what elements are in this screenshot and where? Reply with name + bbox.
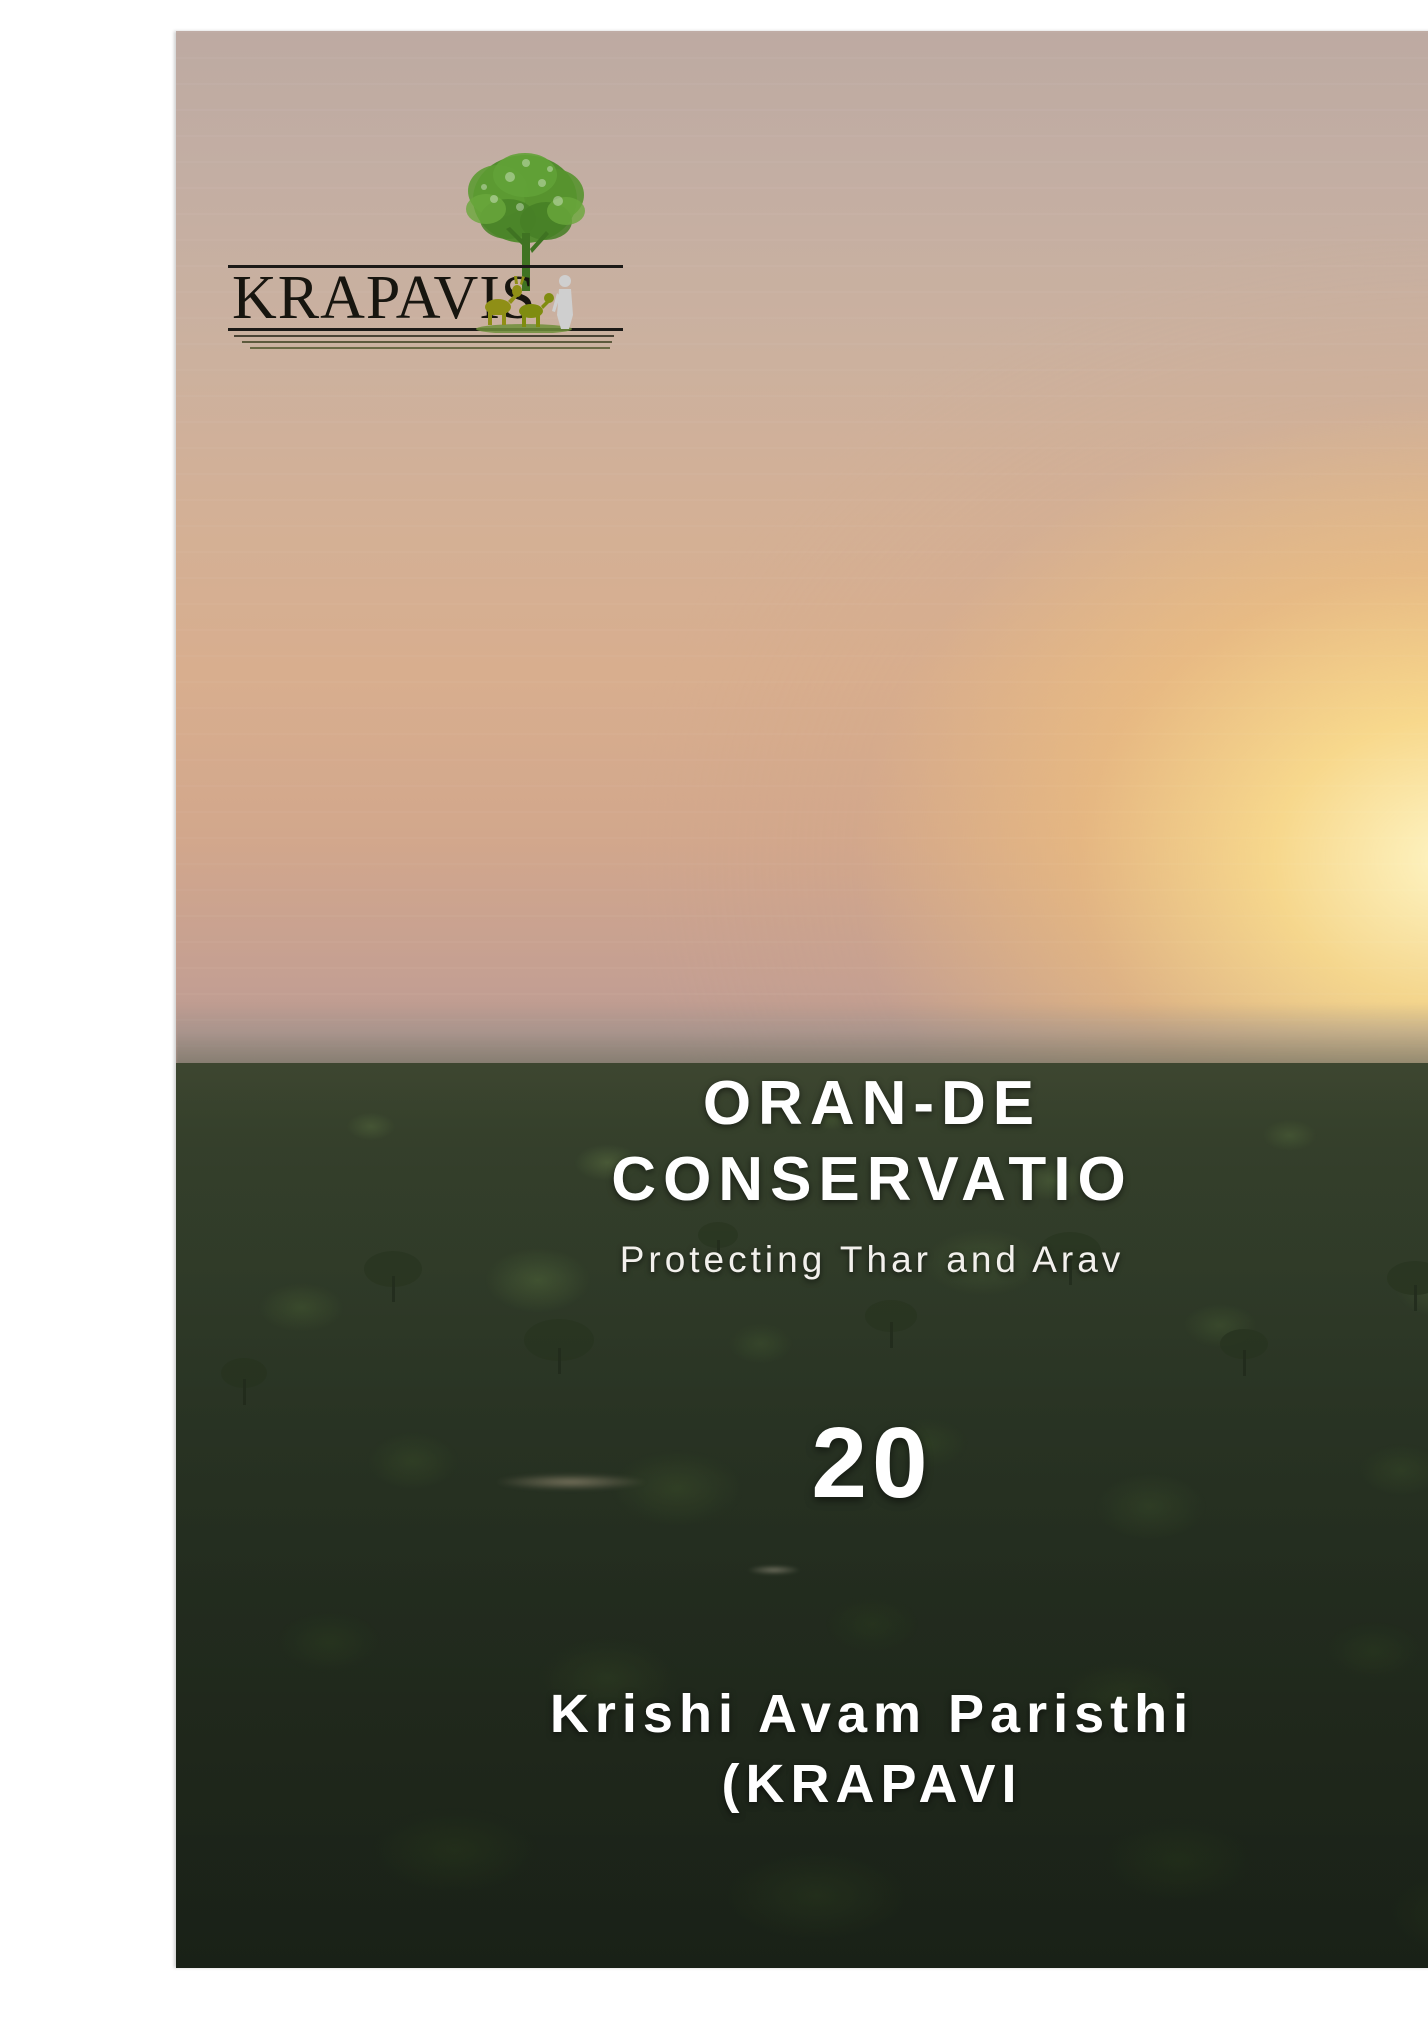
cover-title: ORAN-DE CONSERVATIO Protecting Thar and … (176, 1066, 1428, 1281)
organization-name: Krishi Avam Paristhi (KRAPAVI (176, 1679, 1428, 1819)
screenshot-viewport: KRAPAVIS (0, 0, 1428, 2018)
organization-line-2: (KRAPAVI (176, 1749, 1428, 1819)
title-line-1: ORAN-DE (176, 1066, 1428, 1142)
organization-line-1: Krishi Avam Paristhi (176, 1679, 1428, 1749)
cover-year: 20 (176, 1406, 1428, 1521)
document-page[interactable]: KRAPAVIS (176, 31, 1428, 1968)
cover-subtitle: Protecting Thar and Arav (176, 1239, 1428, 1281)
cover-text-block: ORAN-DE CONSERVATIO Protecting Thar and … (176, 31, 1428, 1968)
title-line-2: CONSERVATIO (176, 1142, 1428, 1218)
